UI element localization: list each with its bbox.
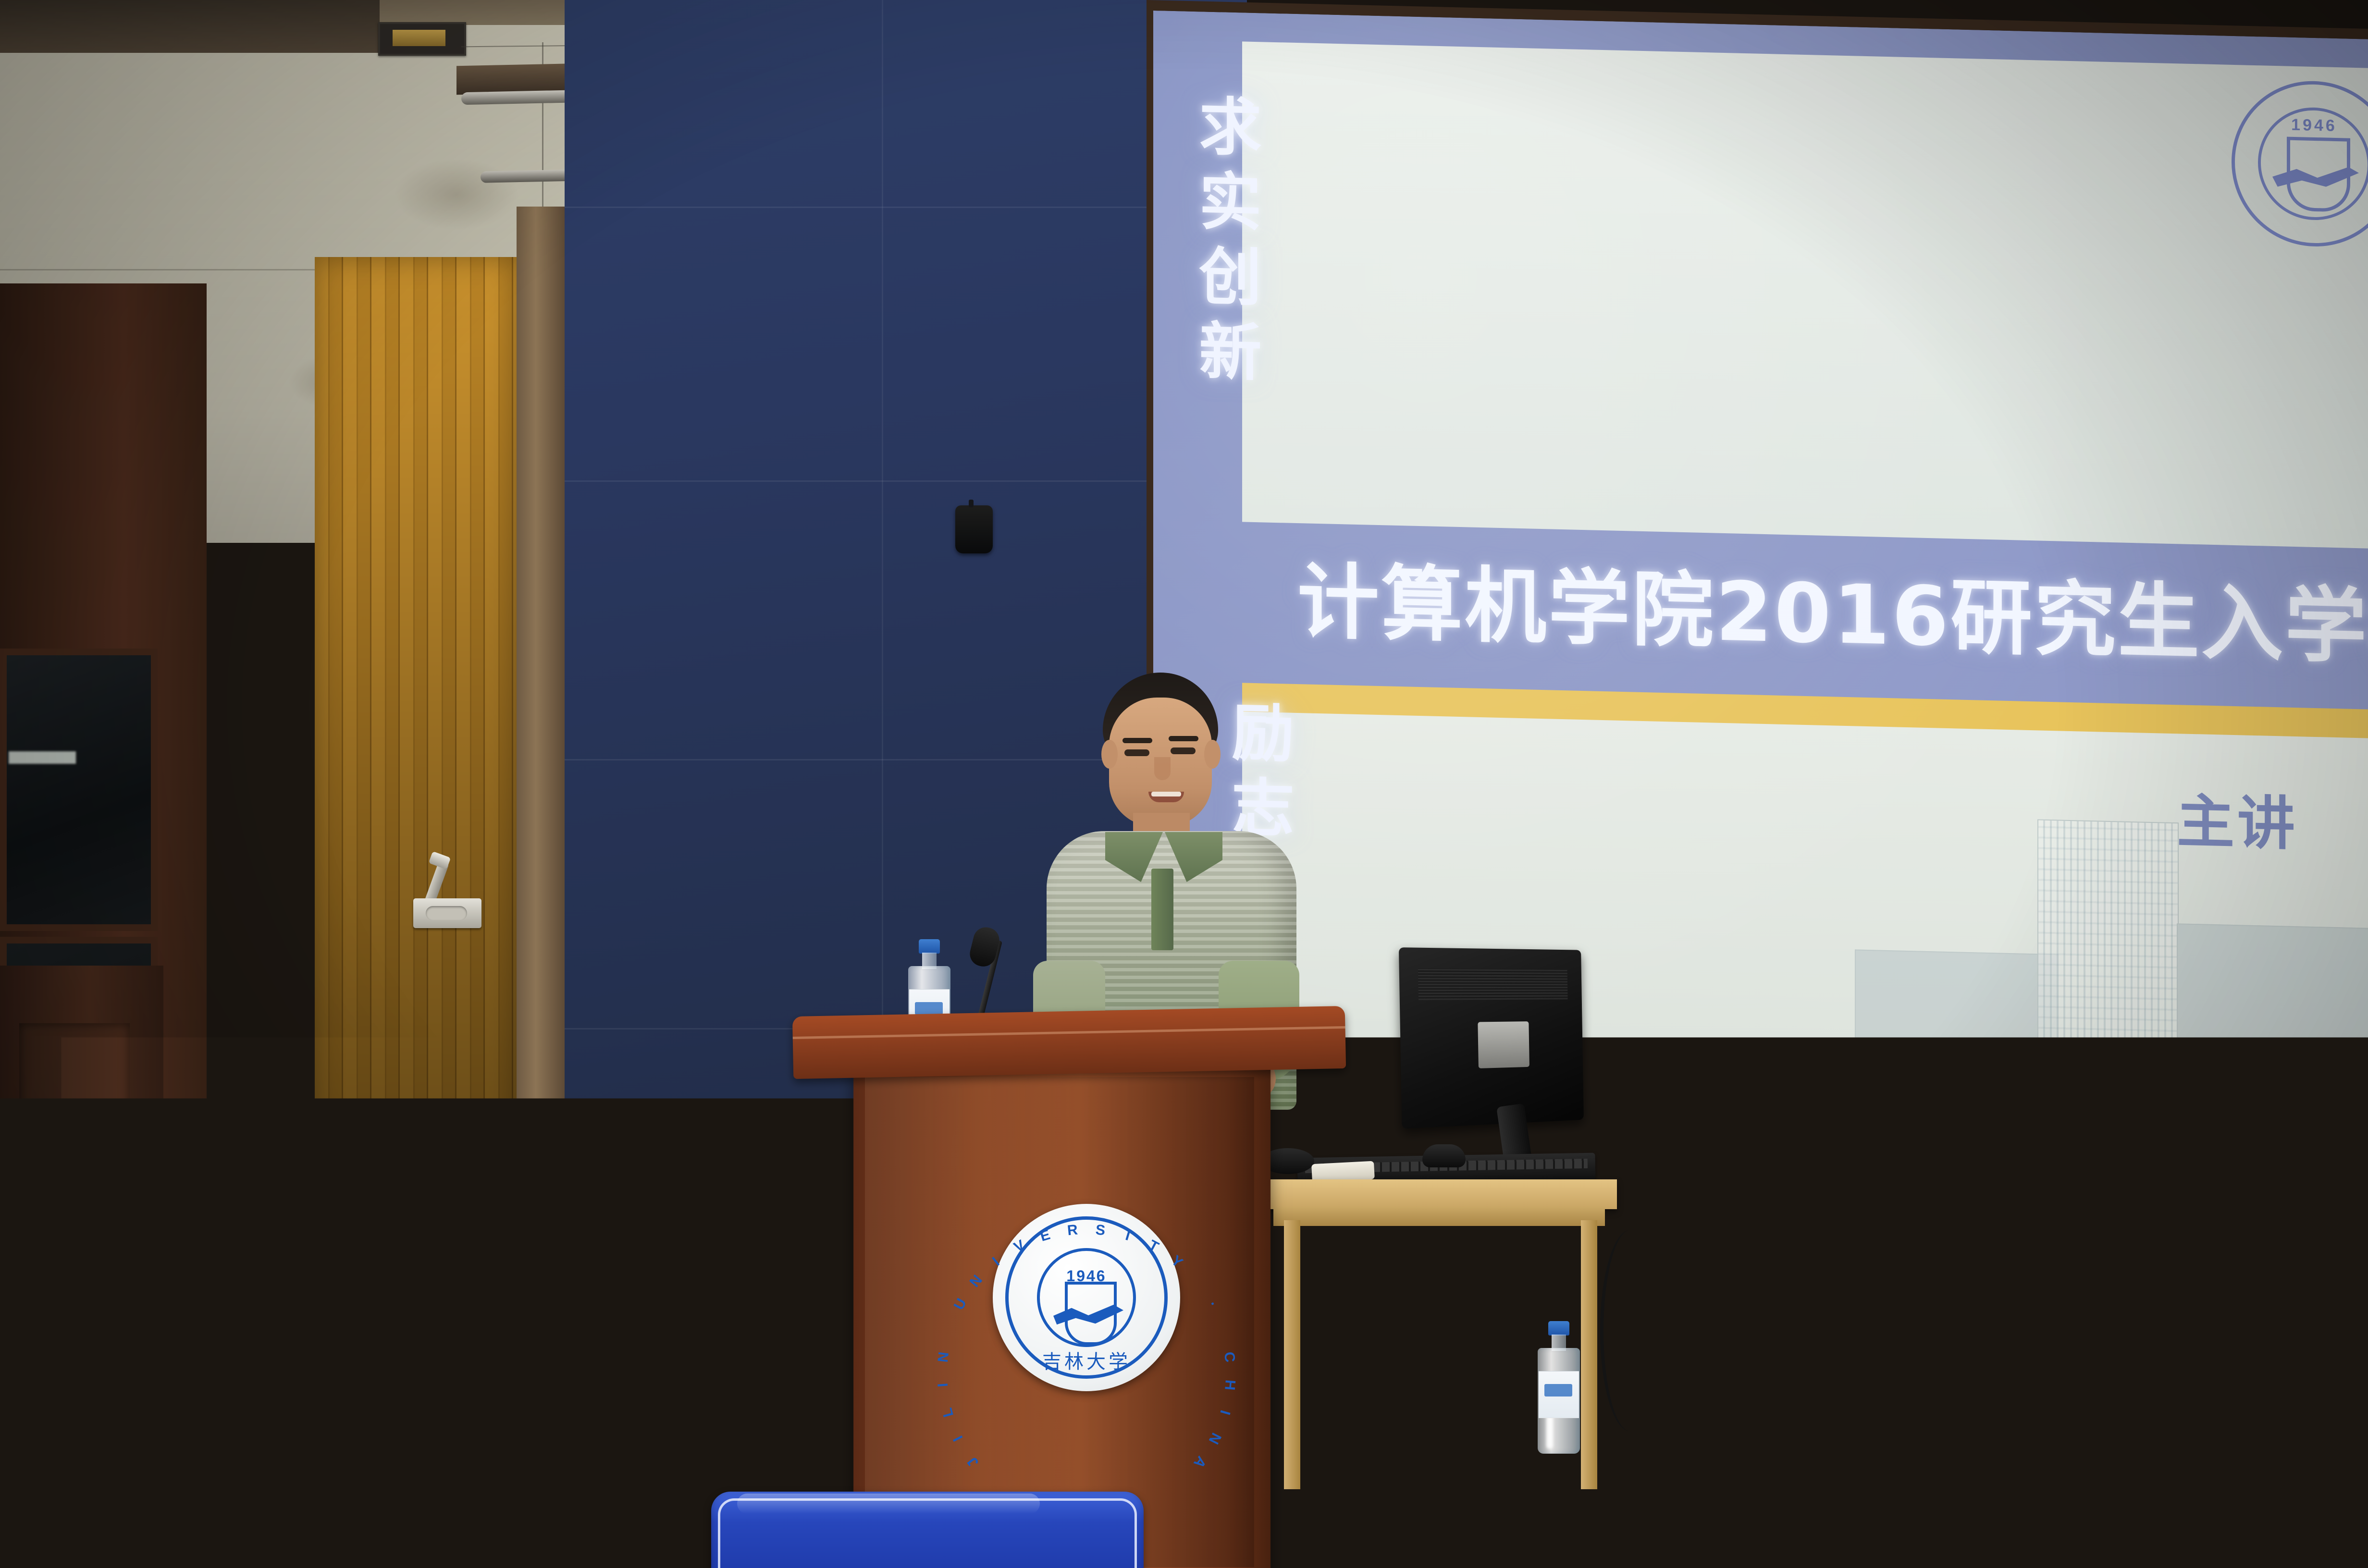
chair-highlight <box>737 1494 1040 1514</box>
presenter-ear-right <box>1204 740 1221 769</box>
lecture-hall-photo: 求实创新 励志 1946 计算机学院2016研究生入学教 主讲 <box>0 0 2368 1568</box>
power-cable <box>1336 1292 1397 1451</box>
wall-stain <box>394 159 519 231</box>
presenter-nose <box>1154 757 1171 780</box>
audience-chair[interactable] <box>192 1470 625 1568</box>
slide-motto-column-1: 求实创新 <box>1182 93 1268 394</box>
building-glass-tower <box>2037 819 2179 1295</box>
av-table-top <box>1261 1179 1617 1209</box>
audience-chair-row-label[interactable]: 一排 <box>2119 1429 2368 1568</box>
podium-top <box>792 1006 1346 1079</box>
av-table-apron <box>1273 1207 1605 1226</box>
audience-chair-15[interactable]: 15 <box>1201 1446 1634 1568</box>
bottle-label <box>1452 1381 1492 1428</box>
power-cable <box>1600 1230 1661 1432</box>
bottle-label <box>1779 1347 1819 1394</box>
door-inset-panel <box>19 1023 130 1321</box>
building-right <box>2177 923 2368 1305</box>
bottle-cap <box>1462 1331 1483 1345</box>
presenter-eye-left <box>1124 749 1149 756</box>
bottle-cap <box>919 939 940 954</box>
presenter-teeth <box>1151 792 1181 796</box>
chair-highlight <box>218 1472 521 1492</box>
door-glass-upper <box>0 649 158 931</box>
chair-number: 14 <box>1663 1511 2085 1559</box>
chair-number: 15 <box>1201 1518 1634 1566</box>
monitor-vent <box>1418 968 1568 1000</box>
presenter-brow-left <box>1122 738 1152 743</box>
slide-speaker-label: 主讲 <box>2177 774 2298 861</box>
audience-chair-14[interactable]: 14 <box>1663 1439 2085 1568</box>
door-lower-panel <box>0 966 163 1568</box>
mouse[interactable] <box>1422 1144 1466 1167</box>
slide-white-block-top <box>1242 41 2368 549</box>
plaque-face <box>393 30 445 46</box>
chair-highlight <box>1227 1448 1530 1468</box>
seal-year: 1946 <box>2235 114 2368 137</box>
acoustic-wall-seam <box>565 207 1247 208</box>
wall-plaque <box>378 22 466 56</box>
ceiling-beam <box>0 0 380 53</box>
presenter-brow-right <box>1169 736 1198 741</box>
shirt-placket <box>1151 869 1173 950</box>
chair-highlight <box>2134 1431 2308 1451</box>
bottle-cap <box>1548 1321 1569 1335</box>
podium-university-emblem: 1946 JILIN UNIVERSITY · CHINA 吉林大学 <box>993 1204 1180 1391</box>
chair-row-label: 一排 <box>2119 1501 2368 1535</box>
building-mid <box>1855 949 2059 1297</box>
emblem-chinese-text: 吉林大学 <box>993 1346 1180 1374</box>
audience-chair[interactable] <box>711 1492 1144 1568</box>
projection-screen: 求实创新 励志 1946 计算机学院2016研究生入学教 主讲 <box>1153 11 2368 1336</box>
presenter-ear-left <box>1101 740 1118 769</box>
monitor[interactable] <box>1399 947 1584 1129</box>
motion-sensor-icon <box>955 505 993 553</box>
door-glass-reflection <box>9 751 76 764</box>
bottle-cap <box>1788 1297 1810 1311</box>
bottle-label <box>1539 1371 1579 1418</box>
projector-mount-bracket <box>413 898 481 928</box>
acoustic-wall-seam <box>565 480 1247 482</box>
presenter-eye-right <box>1171 747 1196 754</box>
monitor-vesa-mount <box>1478 1021 1529 1068</box>
chair-highlight <box>1688 1441 1984 1461</box>
